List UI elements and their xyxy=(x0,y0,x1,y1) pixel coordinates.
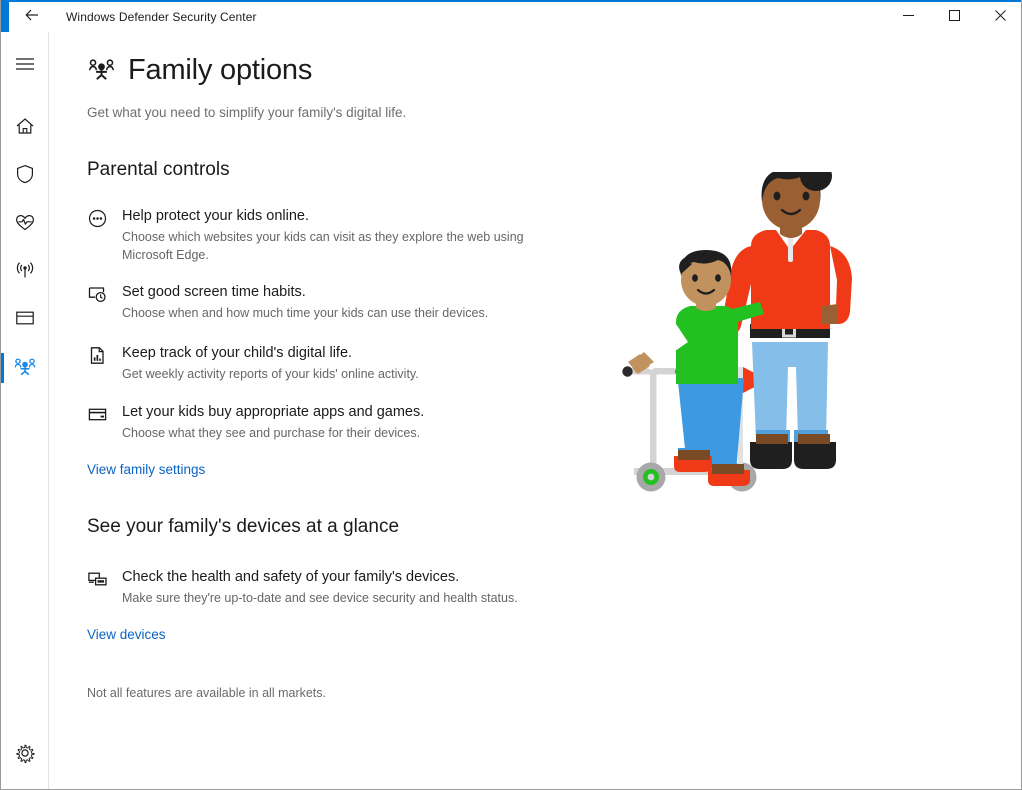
feature-title: Check the health and safety of your fami… xyxy=(122,568,518,587)
shield-icon xyxy=(14,163,36,190)
feature-protect-kids-online: Help protect your kids online. Choose wh… xyxy=(88,207,588,264)
report-chart-icon xyxy=(88,344,112,383)
feature-text: Set good screen time habits. Choose when… xyxy=(122,283,488,322)
feature-description: Choose which websites your kids can visi… xyxy=(122,228,567,264)
feature-screen-time-habits: Set good screen time habits. Choose when… xyxy=(88,283,588,322)
feature-title: Keep track of your child's digital life. xyxy=(122,344,419,363)
feature-description: Choose what they see and purchase for th… xyxy=(122,424,424,442)
back-arrow-icon xyxy=(24,7,40,28)
navigation-sidebar xyxy=(1,32,49,789)
sidebar-item-virus-threat-protection[interactable] xyxy=(1,152,49,200)
feature-description: Choose when and how much time your kids … xyxy=(122,304,488,322)
window-accent-stripe xyxy=(1,2,9,33)
window-title: Windows Defender Security Center xyxy=(66,10,257,24)
feature-description: Make sure they're up-to-date and see dev… xyxy=(122,589,518,607)
feature-title: Help protect your kids online. xyxy=(122,207,567,226)
browser-dots-icon xyxy=(88,207,112,264)
sidebar-item-settings[interactable] xyxy=(1,731,49,779)
family-parent-and-child-on-scooter-illustration xyxy=(610,172,890,502)
devices-heading: See your family's devices at a glance xyxy=(87,516,399,538)
feature-title: Set good screen time habits. xyxy=(122,283,488,302)
family-people-icon xyxy=(87,55,116,87)
feature-text: Keep track of your child's digital life.… xyxy=(122,344,419,383)
selection-indicator xyxy=(1,353,4,383)
sidebar-item-app-browser-control[interactable] xyxy=(1,296,49,344)
wifi-broadcast-icon xyxy=(14,259,36,286)
page-subtitle: Get what you need to simplify your famil… xyxy=(87,105,406,120)
multiple-devices-icon xyxy=(88,568,112,607)
sidebar-item-family-options[interactable] xyxy=(1,344,49,392)
feature-buy-apps-and-games: Let your kids buy appropriate apps and g… xyxy=(88,403,588,442)
hamburger-menu-icon xyxy=(15,56,35,77)
back-button[interactable] xyxy=(9,2,55,33)
minimize-button[interactable] xyxy=(885,2,931,33)
app-window-icon xyxy=(14,307,36,334)
feature-track-digital-life: Keep track of your child's digital life.… xyxy=(88,344,588,383)
family-people-icon xyxy=(13,355,37,382)
monitor-clock-icon xyxy=(88,283,112,322)
feature-text: Let your kids buy appropriate apps and g… xyxy=(122,403,424,442)
minimize-icon xyxy=(903,8,914,26)
home-icon xyxy=(14,115,36,142)
close-icon xyxy=(995,8,1006,26)
page-header: Family options xyxy=(87,54,312,87)
feature-check-family-devices: Check the health and safety of your fami… xyxy=(88,568,588,607)
main-content: Family options Get what you need to simp… xyxy=(50,32,1022,789)
sidebar-item-home[interactable] xyxy=(1,104,49,152)
sidebar-menu-button[interactable] xyxy=(1,42,49,90)
app-window: Windows Defender Security Center xyxy=(0,0,1022,790)
title-bar: Windows Defender Security Center xyxy=(1,0,1022,32)
parental-controls-heading: Parental controls xyxy=(87,159,230,181)
feature-text: Help protect your kids online. Choose wh… xyxy=(122,207,567,264)
markets-footnote: Not all features are available in all ma… xyxy=(87,686,326,700)
sidebar-item-firewall-network-protection[interactable] xyxy=(1,248,49,296)
gear-icon xyxy=(14,742,36,769)
maximize-button[interactable] xyxy=(931,2,977,33)
feature-text: Check the health and safety of your fami… xyxy=(122,568,518,607)
credit-card-icon xyxy=(88,403,112,442)
maximize-icon xyxy=(949,8,960,26)
sidebar-gap xyxy=(1,90,48,104)
close-button[interactable] xyxy=(977,2,1022,33)
feature-title: Let your kids buy appropriate apps and g… xyxy=(122,403,424,422)
view-family-settings-link[interactable]: View family settings xyxy=(87,462,205,477)
sidebar-item-device-performance-health[interactable] xyxy=(1,200,49,248)
page-title: Family options xyxy=(128,54,312,87)
heart-pulse-icon xyxy=(14,211,36,238)
view-devices-link[interactable]: View devices xyxy=(87,627,166,642)
feature-description: Get weekly activity reports of your kids… xyxy=(122,365,419,383)
